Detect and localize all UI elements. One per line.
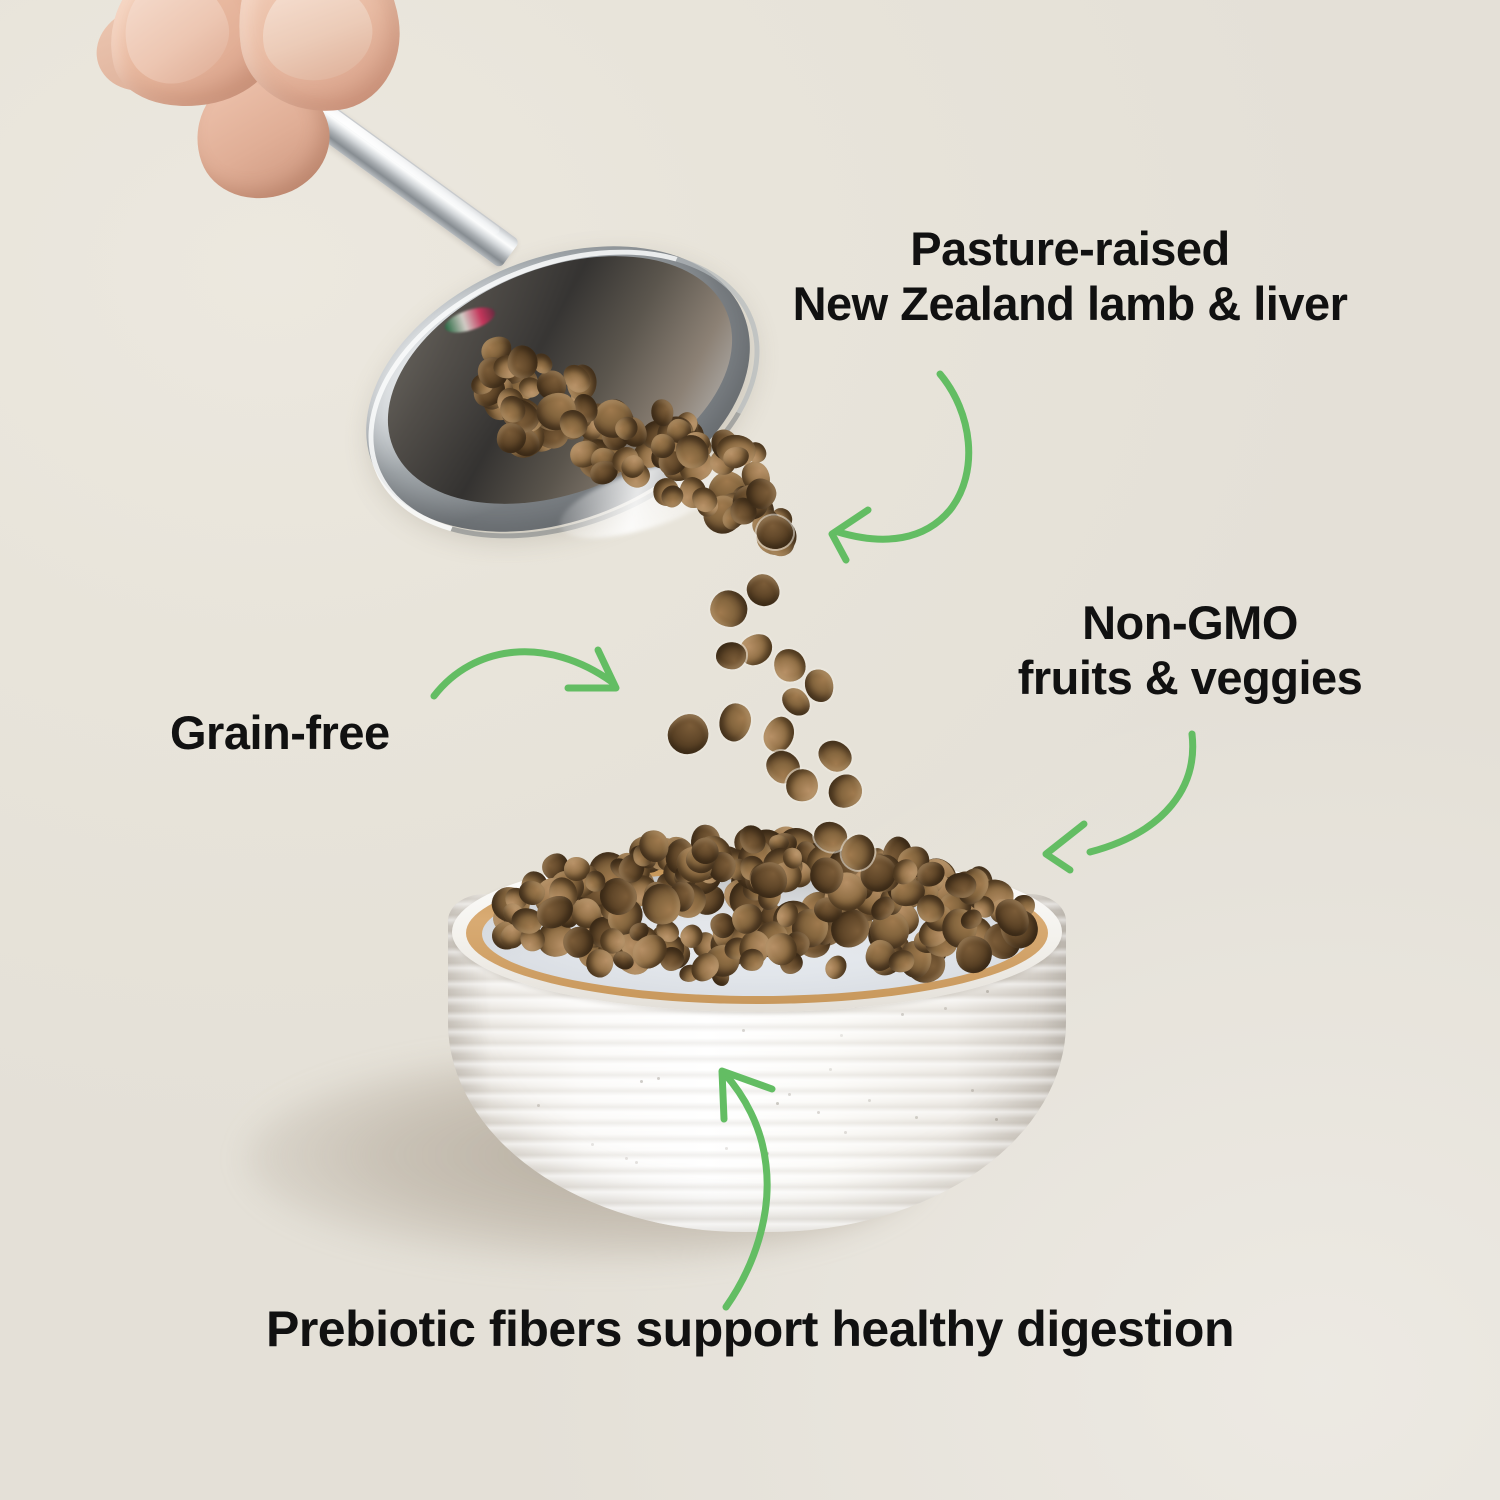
- callout-non-gmo: Non-GMO fruits & veggies: [955, 596, 1425, 705]
- bowl-speck: [625, 1157, 628, 1160]
- arrow-to-scoop-icon: [790, 360, 1010, 560]
- bowl-speck: [657, 1077, 660, 1080]
- bowl-speck: [986, 990, 989, 993]
- arrow-to-bowl-rim-icon: [1020, 720, 1260, 870]
- callout-grain-free: Grain-free: [170, 706, 500, 761]
- kibble-piece: [715, 700, 754, 744]
- product-feature-image: Pasture-raised New Zealand lamb & liver …: [0, 0, 1500, 1500]
- kibble-piece: [715, 641, 746, 669]
- bowl-speck: [868, 1099, 871, 1102]
- kibble-piece: [769, 644, 810, 686]
- kibble-piece: [508, 345, 538, 378]
- callout-prebiotic-fibers: Prebiotic fibers support healthy digesti…: [0, 1300, 1500, 1358]
- kibble-piece: [660, 706, 716, 762]
- kibble-piece: [585, 871, 606, 892]
- bowl-speck: [944, 1007, 947, 1010]
- bowl-speck: [901, 1013, 904, 1016]
- arrow-to-bowl-icon: [680, 1055, 830, 1315]
- callout-pasture-raised: Pasture-raised New Zealand lamb & liver: [690, 222, 1450, 331]
- kibble-piece: [813, 734, 858, 778]
- kibble-piece: [822, 768, 869, 814]
